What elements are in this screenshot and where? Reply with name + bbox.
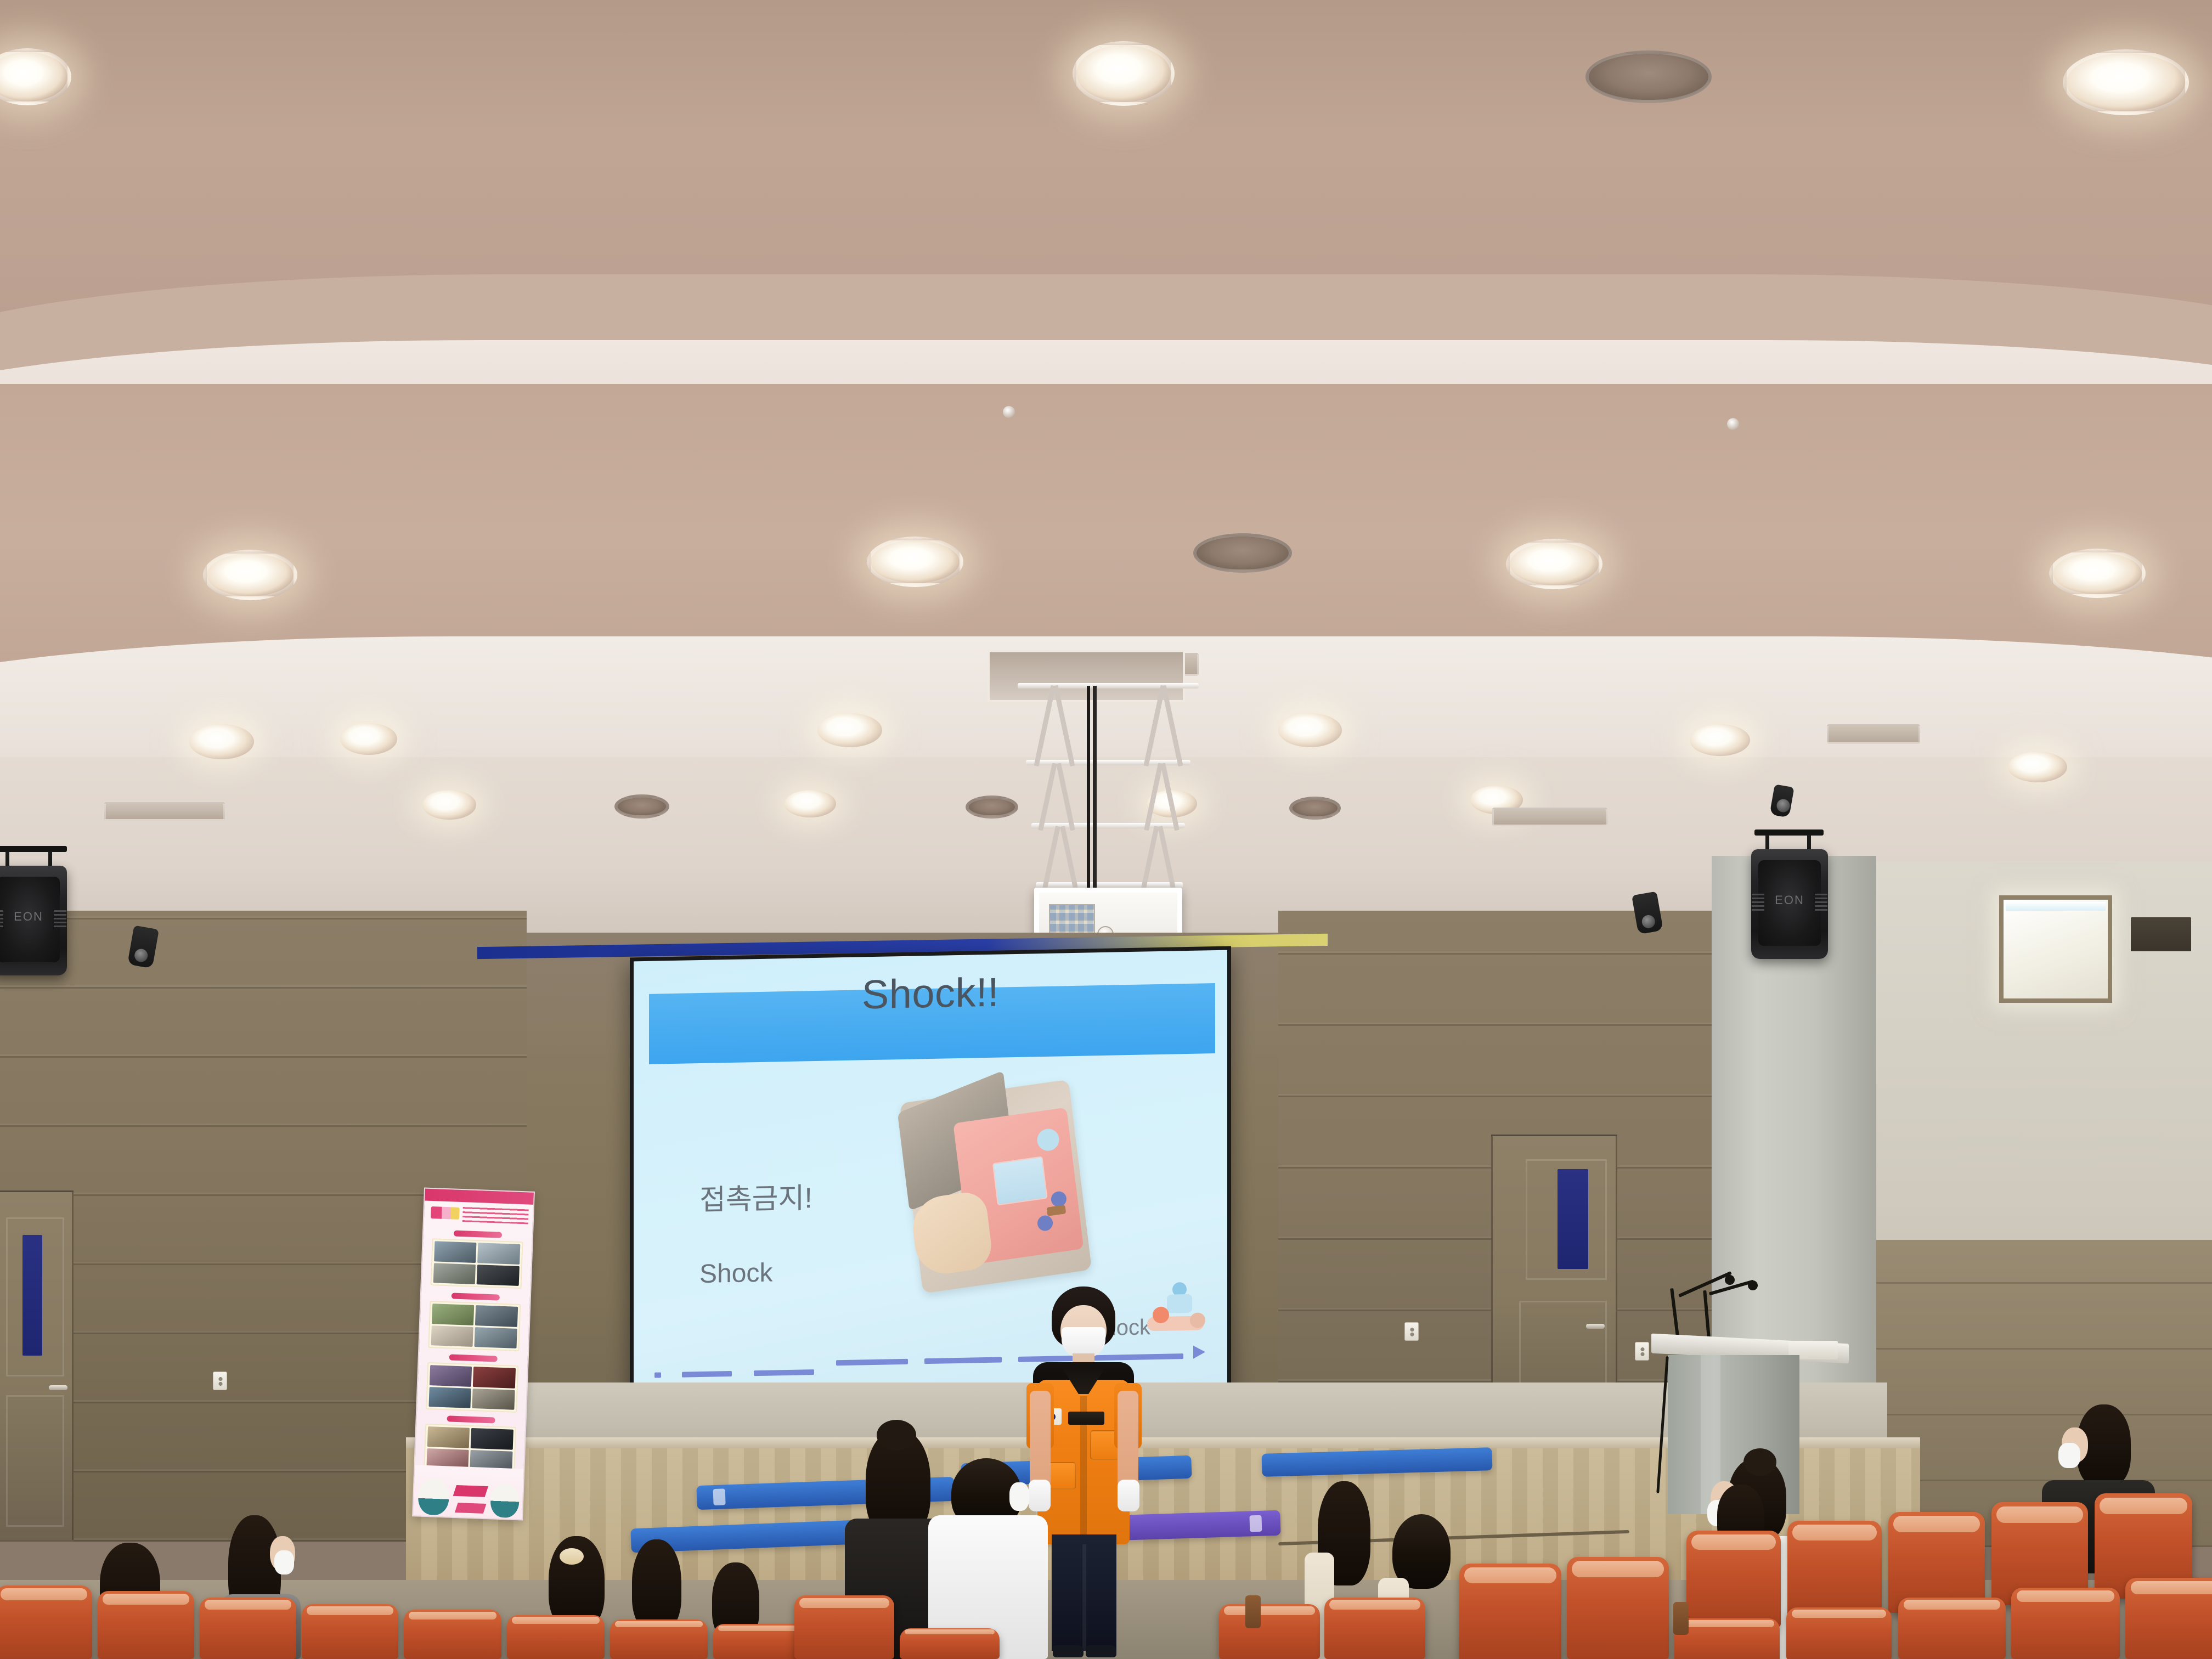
- auditorium-seat: [1786, 1607, 1892, 1659]
- mat-logo-icon: [1249, 1515, 1262, 1532]
- wall-speaker-right: EON: [1751, 849, 1828, 959]
- auditorium-seat: [98, 1591, 194, 1659]
- recessed-downlight: [2008, 752, 2067, 782]
- aed-device-image: [900, 1080, 1092, 1294]
- recessed-downlight: [1073, 41, 1175, 106]
- cpr-rescuer-body-icon: [1167, 1294, 1192, 1313]
- door-handle-icon[interactable]: [49, 1385, 67, 1390]
- auditorium-seat: [1898, 1598, 2006, 1659]
- participant-face-mask: [1009, 1482, 1029, 1511]
- banner-mascot-icon: [417, 1479, 449, 1516]
- timeline-dash: [924, 1357, 1002, 1364]
- aed-label-icon: [1047, 1205, 1066, 1216]
- recessed-downlight: [422, 790, 476, 820]
- banner-footer: [413, 1465, 523, 1519]
- recessed-downlight: [785, 790, 836, 817]
- auditorium-seat: [1459, 1564, 1561, 1659]
- smoke-sensor-icon: [1003, 406, 1015, 418]
- ceiling-air-vent: [1827, 724, 1920, 744]
- speaker-hanger-icon: [1765, 835, 1769, 849]
- banner-photo: [475, 1305, 518, 1327]
- presenter-glove: [1029, 1480, 1051, 1511]
- banner-photo-grid: [426, 1362, 518, 1413]
- auditorium-seat: [1567, 1557, 1669, 1659]
- microphone-head-icon: [1725, 1275, 1735, 1285]
- slide-subtitle-english: Shock: [699, 1258, 772, 1290]
- speaker-hanger-icon: [1807, 835, 1811, 849]
- smoke-sensor-icon: [1727, 418, 1739, 430]
- auditorium-seat: [1324, 1598, 1425, 1659]
- seat-armrest: [1245, 1595, 1261, 1628]
- ceiling-speaker-grille: [614, 794, 669, 819]
- auditorium-seat: [900, 1628, 1000, 1659]
- auditorium-seat: [610, 1620, 708, 1659]
- timeline-dash: [754, 1369, 814, 1376]
- aed-power-button-icon: [1036, 1127, 1060, 1152]
- wall-air-vent: [2131, 917, 2191, 951]
- banner-photo-grid: [428, 1301, 521, 1351]
- door-handle-icon[interactable]: [1586, 1324, 1605, 1329]
- recessed-downlight: [203, 550, 297, 600]
- auditorium-seat: [404, 1610, 501, 1659]
- auditorium-seat: [302, 1604, 398, 1659]
- wall-power-outlet: [1635, 1342, 1649, 1361]
- banner-photo: [434, 1241, 477, 1262]
- projection-booth-window: [1999, 895, 2112, 1003]
- banner-heading-text: [462, 1206, 529, 1224]
- speaker-bracket: [1754, 830, 1824, 836]
- banner-photo: [430, 1365, 472, 1386]
- seat-armrest: [1673, 1602, 1689, 1635]
- door-lower-panel: [6, 1395, 64, 1527]
- speaker-hanger-icon: [48, 851, 52, 866]
- auditorium-photo-scene: EON EON Shock!! 접촉금지! Shock: [0, 0, 2212, 1659]
- recessed-downlight: [817, 713, 882, 747]
- banner-photo: [431, 1325, 473, 1347]
- door-left-stage[interactable]: [0, 1190, 74, 1542]
- presenter-glove: [1118, 1480, 1139, 1511]
- hair-bow-icon: [560, 1548, 584, 1565]
- speaker-hanger-icon: [5, 851, 9, 866]
- banner-section-label: [449, 1354, 497, 1362]
- auditorium-seat: [1686, 1531, 1781, 1627]
- ceiling-speaker-grille: [1193, 533, 1292, 573]
- participant-hair-bun: [1743, 1448, 1776, 1476]
- recessed-downlight: [2063, 49, 2189, 115]
- auditorium-seat: [507, 1615, 605, 1659]
- timeline-arrow-icon: [1193, 1345, 1205, 1358]
- auditorium-seat: [794, 1595, 894, 1659]
- banner-logo-icon: [431, 1206, 460, 1220]
- ceiling-air-vent: [1492, 808, 1607, 826]
- presenter-trousers: [1052, 1534, 1116, 1651]
- recessed-downlight: [867, 537, 963, 587]
- timeline-dash: [682, 1371, 731, 1378]
- banner-mascot-icon: [490, 1483, 520, 1518]
- recessed-downlight: [2049, 549, 2146, 598]
- banner-section-label: [452, 1293, 499, 1300]
- auditorium-seat: [200, 1598, 296, 1659]
- podium-cable: [1656, 1356, 1668, 1493]
- roll-up-photo-banner: [412, 1188, 535, 1521]
- wall-power-outlet: [213, 1372, 227, 1390]
- banner-photo: [472, 1389, 515, 1410]
- timeline-dash: [654, 1372, 661, 1378]
- recessed-downlight: [1506, 539, 1602, 589]
- cpr-illustration-icon: [1144, 1282, 1207, 1352]
- presenter-shoe: [1086, 1645, 1116, 1657]
- banner-photo: [471, 1428, 513, 1449]
- timeline-dash: [836, 1359, 908, 1366]
- microphone-head-icon: [1748, 1280, 1758, 1290]
- banner-section-label: [447, 1415, 495, 1423]
- ceiling-speaker-grille: [1585, 50, 1712, 103]
- banner-photo: [473, 1367, 516, 1388]
- auditorium-seat: [2011, 1588, 2120, 1659]
- banner-photo: [427, 1426, 470, 1448]
- banner-photo: [432, 1304, 475, 1325]
- banner-footer-shape: [453, 1485, 488, 1497]
- presenter-name-tag: [1068, 1412, 1104, 1425]
- speaker-bracket: [0, 846, 67, 852]
- wall-power-outlet: [1404, 1322, 1419, 1341]
- ceiling-speaker-grille: [966, 795, 1018, 819]
- banner-photo: [433, 1263, 476, 1284]
- auditorium-seat: [1219, 1604, 1320, 1659]
- recessed-downlight: [1278, 713, 1342, 747]
- presenter-arm: [1030, 1391, 1051, 1487]
- participant-face-mask: [2058, 1443, 2080, 1468]
- banner-photo: [478, 1243, 521, 1264]
- banner-photo-grid: [430, 1238, 523, 1289]
- auditorium-seat: [1674, 1618, 1780, 1659]
- participant-face-mask: [274, 1550, 294, 1575]
- door-upper-panel: [1526, 1159, 1607, 1280]
- auditorium-seat: [2125, 1578, 2212, 1659]
- auditorium-seat: [0, 1585, 92, 1659]
- scissor-lift-bar: [1026, 760, 1190, 765]
- banner-photo: [475, 1327, 517, 1348]
- presenter-shoe: [1053, 1645, 1084, 1657]
- recessed-downlight: [1690, 724, 1750, 756]
- banner-section-label: [454, 1231, 501, 1238]
- participant-hair-bun: [877, 1420, 916, 1451]
- door-upper-panel: [6, 1217, 64, 1376]
- auditorium-seat: [1787, 1521, 1882, 1620]
- wall-speaker-left: EON: [0, 866, 67, 975]
- scissor-lift-bar: [1018, 683, 1199, 689]
- recessed-downlight: [340, 723, 397, 755]
- aed-button-icon: [1036, 1215, 1053, 1232]
- presenter-arm: [1118, 1391, 1138, 1487]
- mat-logo-icon: [713, 1488, 726, 1505]
- slide-subtitle-korean: 접촉금지!: [699, 1175, 812, 1218]
- aed-display-icon: [992, 1156, 1048, 1205]
- participant-hair: [632, 1539, 681, 1632]
- speaker-brand-label: EON: [0, 910, 67, 924]
- banner-top-bar: [425, 1189, 534, 1205]
- speaker-brand-label: EON: [1751, 893, 1828, 907]
- banner-footer-shape: [455, 1503, 487, 1514]
- banner-photo: [477, 1265, 520, 1286]
- banner-photo: [428, 1387, 471, 1408]
- recessed-downlight: [189, 724, 254, 759]
- ceiling-speaker-grille: [1289, 797, 1341, 820]
- ceiling-air-vent: [104, 802, 225, 821]
- projector-cable-bundle: [1084, 686, 1102, 889]
